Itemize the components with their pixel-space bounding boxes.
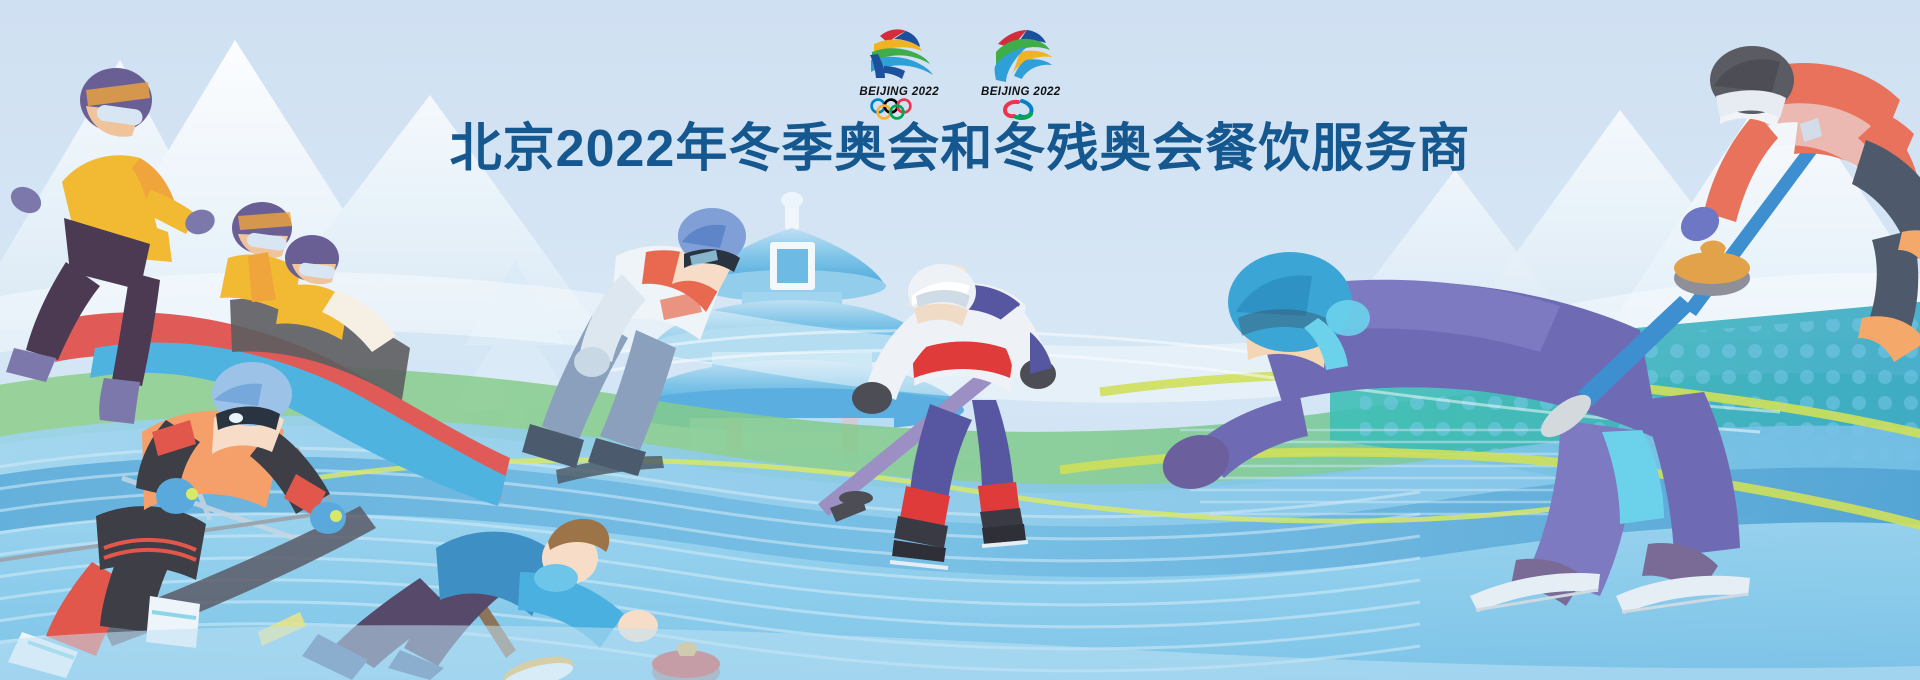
paralympic-wordmark: BEIJING 2022 [981,86,1061,98]
flying-fei-ribbon-icon [982,22,1060,84]
agitos-icon [988,98,1054,120]
beijing-2022-paralympic-emblem: BEIJING 2022 [981,22,1061,120]
winter-dong-ribbon-icon [860,22,938,84]
emblem-row: BEIJING 2022 BEIJING 20 [0,22,1920,120]
beijing-2022-olympic-emblem: BEIJING 2022 [859,22,939,120]
hockey-puck [839,491,873,505]
olympic-wordmark: BEIJING 2022 [859,86,939,98]
olympic-banner: BEIJING 2022 BEIJING 20 [0,0,1920,680]
page-title: 北京2022年冬季奥会和冬残奥会餐饮服务商 [0,122,1920,177]
olympic-rings-icon [866,98,932,120]
